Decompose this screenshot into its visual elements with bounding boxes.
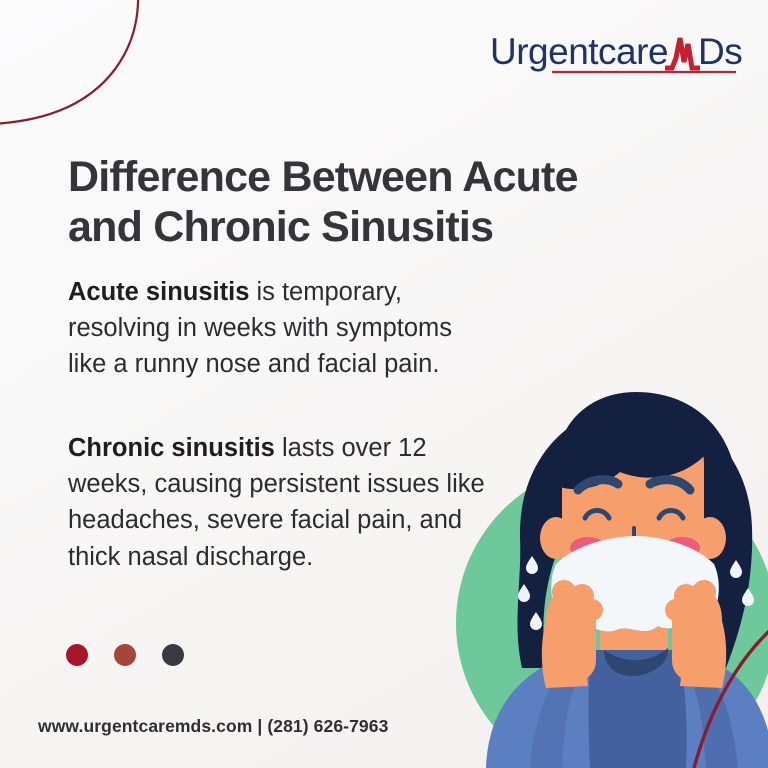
illustration-svg [438, 368, 768, 768]
paragraph-acute: Acute sinusitis is temporary, resolving … [68, 274, 488, 383]
decorative-dots [66, 644, 184, 666]
heartbeat-m-icon [665, 38, 700, 68]
footer-contact[interactable]: www.urgentcaremds.com | (281) 626-7963 [38, 716, 388, 737]
illustration-woman-blowing-nose [438, 368, 768, 768]
social-post-canvas: Urgentcare Ds Difference Between Acute a… [0, 0, 768, 768]
page-title-line-2: and Chronic Sinusitis [68, 203, 493, 251]
paragraph-acute-lead: Acute sinusitis [68, 278, 249, 306]
decorative-arc-top-left [0, 0, 200, 150]
dot-brick [114, 644, 136, 666]
dot-crimson [66, 644, 88, 666]
page-title: Difference Between Acute and Chronic Sin… [68, 152, 698, 253]
logo-text-urgentcare: Urgentcare [490, 31, 668, 72]
logo-text-ds: Ds [698, 31, 742, 72]
brand-logo[interactable]: Urgentcare Ds [490, 34, 742, 80]
paragraph-chronic-lead: Chronic sinusitis [68, 434, 275, 462]
dot-charcoal [162, 644, 184, 666]
page-title-line-1: Difference Between Acute [68, 153, 578, 201]
paragraph-chronic: Chronic sinusitis lasts over 12 weeks, c… [68, 430, 498, 575]
logo-svg: Urgentcare Ds [490, 28, 742, 80]
